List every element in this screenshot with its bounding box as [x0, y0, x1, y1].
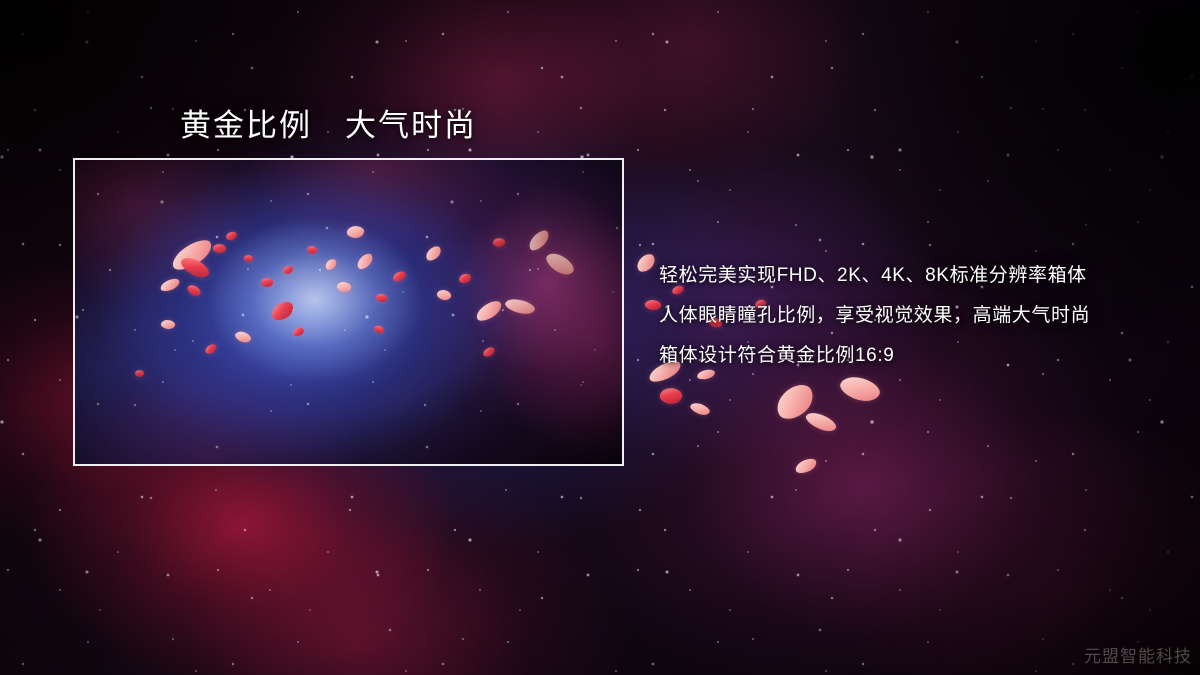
body-text-block: 轻松完美实现FHD、2K、4K、8K标准分辨率箱体 人体眼睛瞳孔比例，享受视觉效… [659, 256, 1179, 376]
page-title: 黄金比例 大气时尚 [180, 100, 477, 145]
frame-image [75, 160, 622, 464]
watermark: 元盟智能科技 [1084, 642, 1192, 667]
body-line-1: 轻松完美实现FHD、2K、4K、8K标准分辨率箱体 [659, 256, 1179, 296]
body-line-2: 人体眼睛瞳孔比例，享受视觉效果，高端大气时尚 [659, 296, 1179, 336]
frame-vignette [75, 160, 622, 464]
body-line-3: 箱体设计符合黄金比例16:9 [659, 336, 1179, 376]
slide-canvas: 黄金比例 大气时尚 轻松完美实现FHD、2K、4K、8K标准分辨率箱体 人体眼睛… [0, 0, 1200, 675]
display-photo-frame [73, 158, 624, 466]
